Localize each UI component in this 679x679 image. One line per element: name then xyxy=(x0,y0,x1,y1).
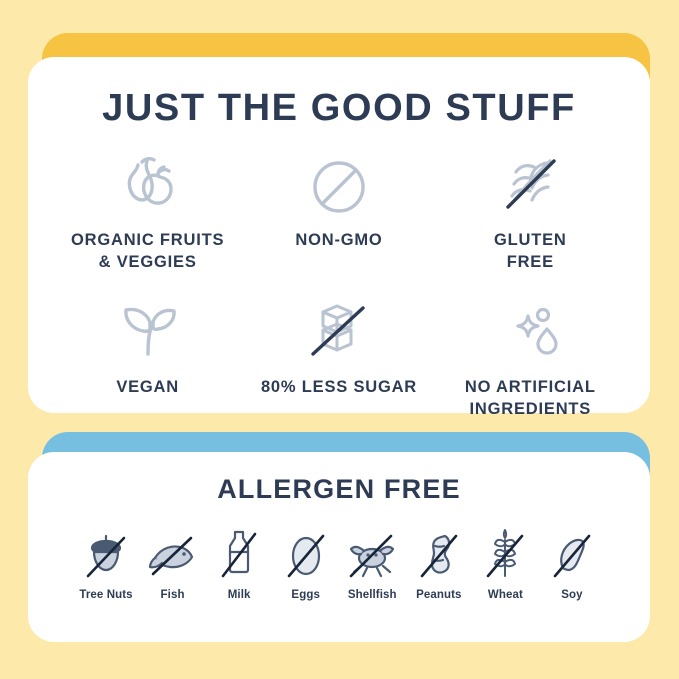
feature-vegan: VEGAN xyxy=(52,298,243,421)
feature-gluten-free: GLUTEN FREE xyxy=(435,151,626,274)
allergen-label: Milk xyxy=(228,589,251,601)
allergen-label: Soy xyxy=(561,589,582,601)
sparkle-droplet-icon xyxy=(484,298,576,364)
allergen-peanuts: Peanuts xyxy=(406,524,472,601)
allergen-label: Wheat xyxy=(488,589,523,601)
allergen-label: Shellfish xyxy=(348,589,397,601)
feature-label: ORGANIC FRUITS & VEGGIES xyxy=(71,229,224,274)
allergen-label: Fish xyxy=(161,589,185,601)
feature-label: VEGAN xyxy=(116,376,179,398)
milk-bottle-slash-icon xyxy=(217,524,261,582)
allergen-fish: Fish xyxy=(140,524,206,601)
no-entry-circle-slash-icon xyxy=(304,151,374,217)
feature-less-sugar: 80% LESS SUGAR xyxy=(243,298,434,421)
feature-label: NON-GMO xyxy=(295,229,382,251)
soybean-slash-icon xyxy=(549,524,595,582)
allergen-eggs: Eggs xyxy=(273,524,339,601)
allergen-soy: Soy xyxy=(539,524,605,601)
allergen-free-title: ALLERGEN FREE xyxy=(28,474,650,505)
good-stuff-title: JUST THE GOOD STUFF xyxy=(28,87,650,130)
infographic-page: JUST THE GOOD STUFF xyxy=(0,0,679,679)
allergen-wheat: Wheat xyxy=(472,524,538,601)
allergen-tree-nuts: Tree Nuts xyxy=(73,524,139,601)
allergen-label: Peanuts xyxy=(416,589,461,601)
feature-label: GLUTEN FREE xyxy=(494,229,567,274)
allergen-free-panel: ALLERGEN FREE Tree Nuts xyxy=(28,432,650,642)
peanut-slash-icon xyxy=(415,524,463,582)
good-stuff-panel: JUST THE GOOD STUFF xyxy=(28,33,650,413)
feature-label: NO ARTIFICIAL INGREDIENTS xyxy=(465,376,596,421)
crab-slash-icon xyxy=(343,524,401,582)
allergen-label: Tree Nuts xyxy=(79,589,132,601)
wheat-stalk-slash-icon xyxy=(488,151,572,217)
feature-label: 80% LESS SUGAR xyxy=(261,376,417,398)
feature-organic-fruits-veggies: ORGANIC FRUITS & VEGGIES xyxy=(52,151,243,274)
sugar-cubes-slash-icon xyxy=(293,298,385,364)
egg-slash-icon xyxy=(283,524,329,582)
leaf-sprout-icon xyxy=(106,298,190,364)
allergen-shellfish: Shellfish xyxy=(339,524,405,601)
feature-no-artificial-ingredients: NO ARTIFICIAL INGREDIENTS xyxy=(435,298,626,421)
allergen-label: Eggs xyxy=(291,589,320,601)
fish-slash-icon xyxy=(145,524,201,582)
allergen-milk: Milk xyxy=(206,524,272,601)
feature-non-gmo: NON-GMO xyxy=(243,151,434,274)
acorn-slash-icon xyxy=(80,524,132,582)
apple-pear-icon xyxy=(104,151,192,217)
feature-grid: ORGANIC FRUITS & VEGGIES NON-GMO xyxy=(52,151,626,420)
allergen-list: Tree Nuts Fish xyxy=(73,524,605,601)
wheat-slash-icon xyxy=(481,524,529,582)
